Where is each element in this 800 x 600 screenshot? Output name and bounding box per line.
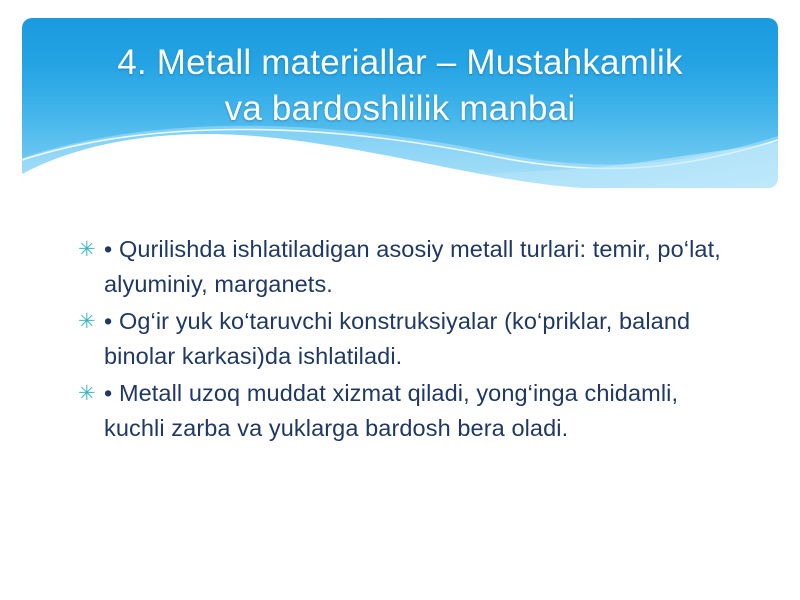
slide-canvas: 4. Metall materiallar – Mustahkamlik va … [0,0,800,600]
list-item: ✳ • Metall uzoq muddat xizmat qiladi, yo… [78,376,738,446]
asterisk-bullet-icon: ✳ [78,304,104,339]
list-item: ✳ • Qurilishda ishlatiladigan asosiy met… [78,232,738,302]
list-item-text: • Metall uzoq muddat xizmat qiladi, yong… [104,376,738,446]
list-item: ✳ • Og‘ir yuk ko‘taruvchi konstruksiyala… [78,304,738,374]
asterisk-bullet-icon: ✳ [78,232,104,267]
header-wave-decoration [22,96,778,188]
title-line-1: 4. Metall materiallar – Mustahkamlik [22,40,778,86]
list-item-text: • Qurilishda ishlatiladigan asosiy metal… [104,232,738,302]
bullet-list: ✳ • Qurilishda ishlatiladigan asosiy met… [78,232,738,448]
list-item-text: • Og‘ir yuk ko‘taruvchi konstruksiyalar … [104,304,738,374]
asterisk-bullet-icon: ✳ [78,376,104,411]
header-banner: 4. Metall materiallar – Mustahkamlik va … [22,18,778,188]
